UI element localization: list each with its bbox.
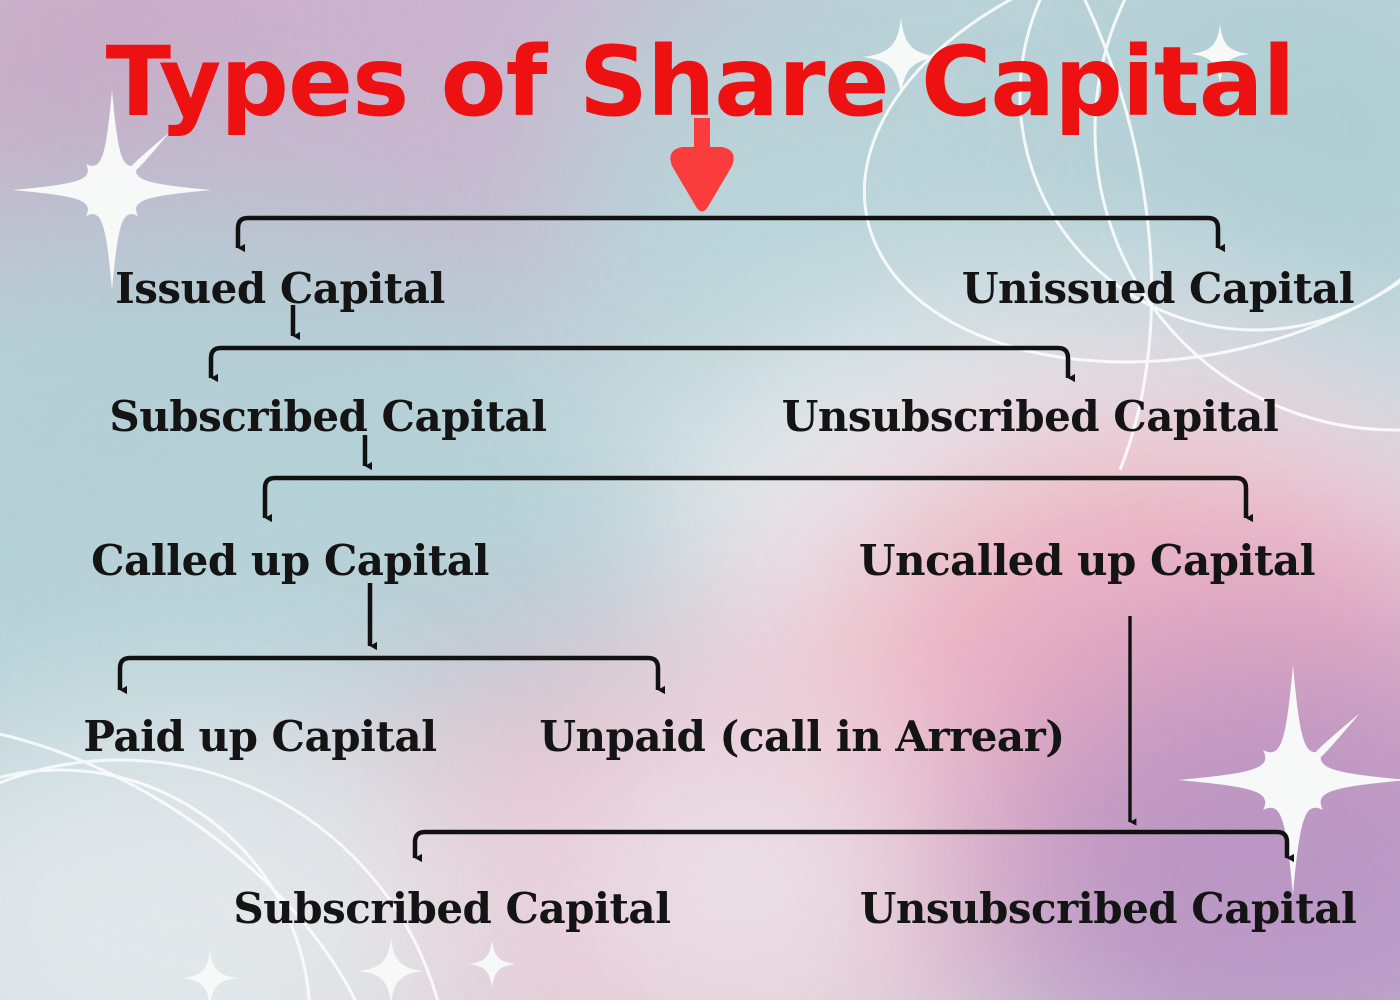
- node-called-up-capital: Called up Capital: [91, 540, 489, 582]
- edge-root-to-unissued: [1208, 218, 1218, 248]
- diagram-connectors: [0, 0, 1400, 1000]
- edge-to-uncalled-up: [1236, 478, 1246, 518]
- node-subscribed-capital: Subscribed Capital: [109, 396, 546, 438]
- edge-root-to-issued: [238, 218, 248, 248]
- node-unsubscribed-capital: Unsubscribed Capital: [782, 396, 1279, 438]
- edge-to-paid-up: [120, 658, 130, 690]
- node-unpaid-call-in-arrear: Unpaid (call in Arrear): [539, 716, 1064, 758]
- red-down-arrow-icon: [670, 118, 733, 212]
- node-paid-up-capital: Paid up Capital: [83, 716, 436, 758]
- node-issued-capital: Issued Capital: [115, 268, 445, 310]
- edge-to-unsubscribed-2: [1277, 832, 1287, 858]
- edge-to-subscribed-2: [415, 832, 425, 858]
- edge-to-called-up: [265, 478, 275, 518]
- edge-to-unsubscribed: [1058, 348, 1068, 378]
- poster-canvas: Types of Share Capital: [0, 0, 1400, 1000]
- edge-to-subscribed: [211, 348, 221, 378]
- node-subscribed-capital-2: Subscribed Capital: [233, 888, 670, 930]
- node-unsubscribed-capital-2: Unsubscribed Capital: [860, 888, 1357, 930]
- node-uncalled-up-capital: Uncalled up Capital: [859, 540, 1315, 582]
- node-unissued-capital: Unissued Capital: [962, 268, 1354, 310]
- edge-to-unpaid: [648, 658, 658, 690]
